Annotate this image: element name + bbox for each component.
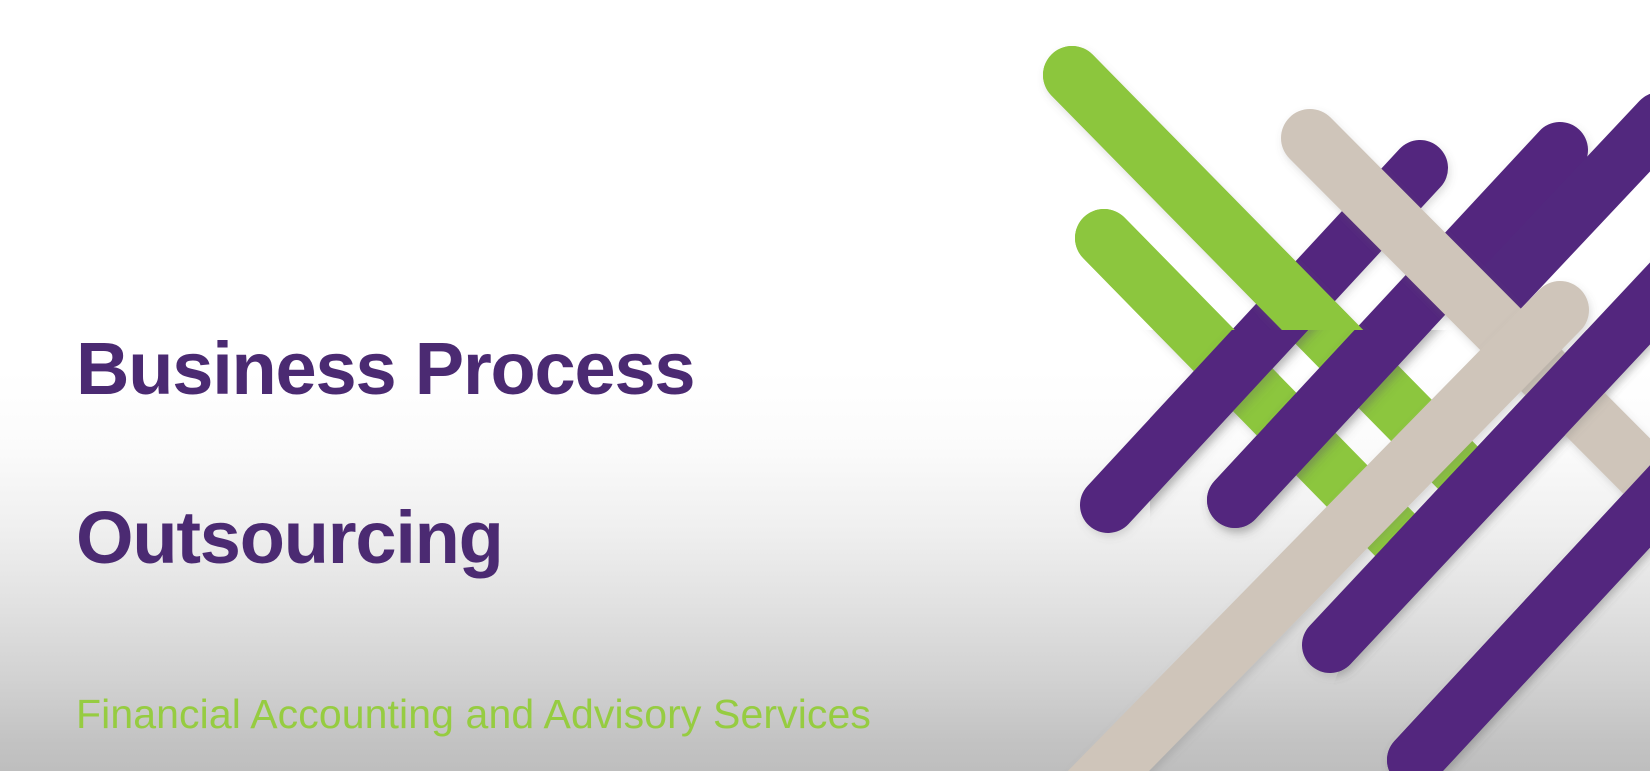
green-bar-1 xyxy=(1072,75,1468,478)
green-bar-1-over xyxy=(1072,75,1468,478)
banner-root: Business Process Outsourcing Financial A… xyxy=(0,0,1650,771)
page-subtitle: Financial Accounting and Advisory Servic… xyxy=(76,692,976,737)
purple-bar-4 xyxy=(1415,420,1650,760)
green-weave-overlay xyxy=(1072,75,1468,540)
taupe-bar-group xyxy=(1080,138,1650,771)
page-title: Business Process Outsourcing xyxy=(76,243,976,665)
taupe-bar-2 xyxy=(1080,310,1560,771)
headline-line-1: Business Process xyxy=(76,327,976,411)
purple-bar-group-back xyxy=(1108,150,1560,505)
purple-accent-group xyxy=(1108,150,1560,505)
headline-line-2: Outsourcing xyxy=(76,496,976,580)
purple-bar-3 xyxy=(1330,250,1650,645)
headline-block: Business Process Outsourcing Financial A… xyxy=(76,243,976,737)
purple-accent-1 xyxy=(1108,168,1420,505)
green-bar-1-lower xyxy=(1072,75,1468,478)
taupe-bar-1 xyxy=(1310,138,1650,620)
purple-bar-1 xyxy=(1108,168,1420,505)
purple-bar-group-right xyxy=(1330,120,1650,760)
green-bar-2-over xyxy=(1104,238,1400,540)
purple-bar-group-front xyxy=(1330,250,1650,760)
purple-accent-2 xyxy=(1235,150,1560,500)
green-bar-2 xyxy=(1104,238,1400,540)
purple-bar-2 xyxy=(1235,150,1560,500)
green-bar-2-lower xyxy=(1104,238,1400,540)
green-weave-lower xyxy=(1072,75,1468,540)
purple-bar-3-front xyxy=(1330,250,1650,645)
purple-bar-4-front xyxy=(1415,420,1650,760)
purple-bar-5 xyxy=(1500,120,1650,290)
green-bar-group xyxy=(1072,75,1468,540)
